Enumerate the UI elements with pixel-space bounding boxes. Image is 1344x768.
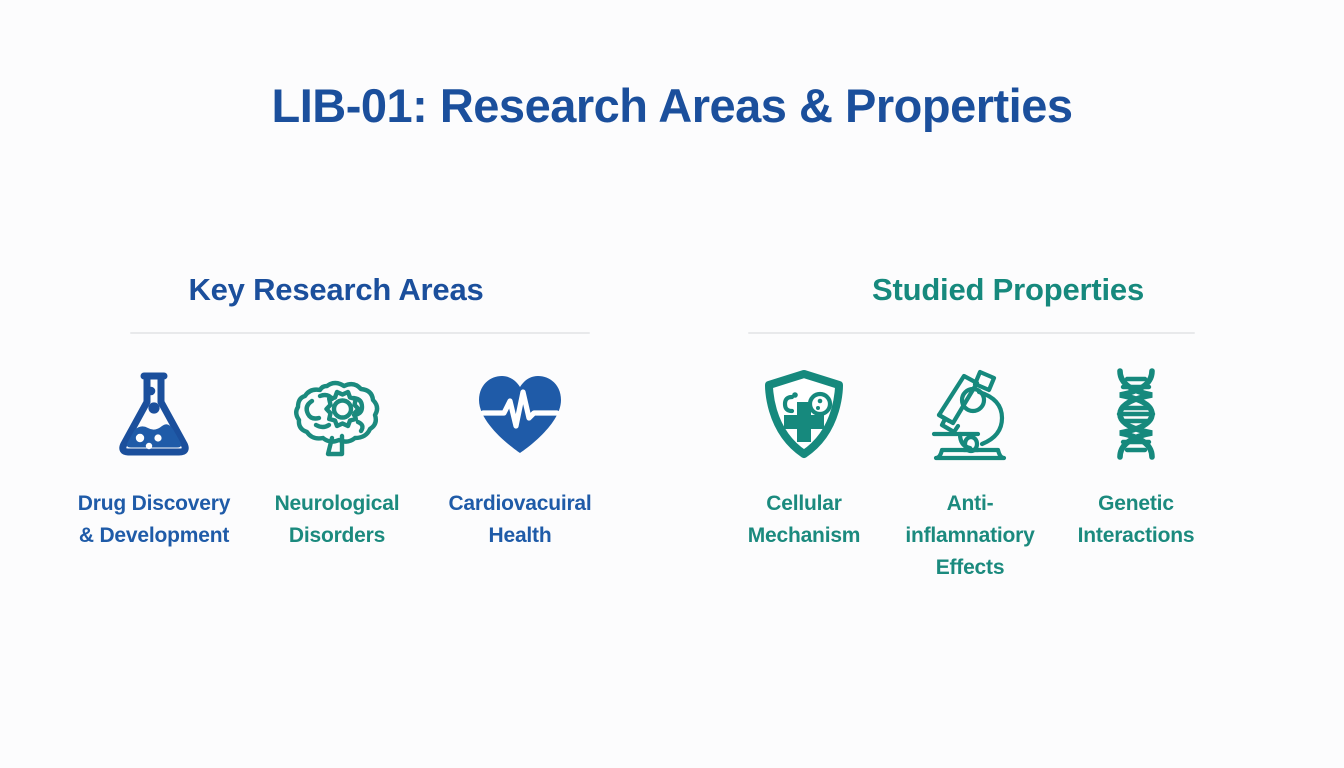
item-label: Anti-inflamnatiory Effects [890,488,1050,584]
left-column-divider [130,332,590,334]
item-label: Cellular Mechanism [748,488,861,552]
right-column-heading: Studied Properties [672,272,1344,308]
item-label: Cardiovacuiral Health [448,488,591,552]
item-drug-discovery[interactable]: Drug Discovery & Development [74,368,234,552]
item-cellular-mechanism[interactable]: Cellular Mechanism [724,368,884,584]
flask-icon [114,368,194,460]
shield-cross-icon [761,368,847,460]
dna-helix-icon [1103,368,1169,460]
item-label: Genetic Interactions [1078,488,1195,552]
brain-gear-icon [290,368,384,460]
item-label-line2: Mechanism [748,524,861,547]
heartbeat-icon [473,368,567,460]
item-label-line1: Genetic [1098,492,1174,515]
item-label-line2: Interactions [1078,524,1195,547]
key-research-areas-column: Key Research Areas [0,272,672,584]
item-genetic-interactions[interactable]: Genetic Interactions [1056,368,1216,584]
item-label-line1: Cellular [766,492,841,515]
item-label-line2: Disorders [289,524,385,547]
item-neurological-disorders[interactable]: Neurological Disorders [257,368,417,552]
studied-properties-column: Studied Properties [672,272,1344,584]
left-column-items: Drug Discovery & Development [0,368,672,552]
item-label-line1: Drug Discovery [78,492,230,515]
item-label-line1: Anti-inflamnatiory [905,492,1034,547]
microscope-icon [924,368,1016,460]
item-cardiovascular-health[interactable]: Cardiovacuiral Health [440,368,600,552]
item-label-line2: & Development [79,524,229,547]
columns-container: Key Research Areas [0,272,1344,584]
item-label: Drug Discovery & Development [78,488,230,552]
item-label-line1: Cardiovacuiral [448,492,591,515]
item-label-line1: Neurological [275,492,400,515]
right-column-divider [748,332,1195,334]
right-column-items: Cellular Mechanism [672,368,1344,584]
slide-root: LIB-01: Research Areas & Properties Key … [0,0,1344,768]
item-label-line2: Health [489,524,552,547]
item-anti-inflammatory-effects[interactable]: Anti-inflamnatiory Effects [890,368,1050,584]
left-column-heading: Key Research Areas [0,272,672,308]
page-title: LIB-01: Research Areas & Properties [0,78,1344,133]
item-label: Neurological Disorders [275,488,400,552]
item-label-line2: Effects [936,556,1005,579]
